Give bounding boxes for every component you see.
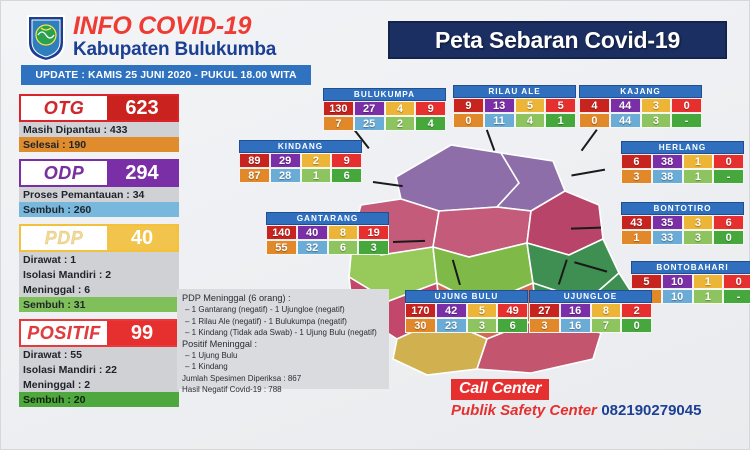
district-cell-otg: 4 <box>579 98 610 113</box>
district-cell-positif-done: - <box>723 289 750 304</box>
statistics-panel: OTG 623 Masih Dipantau : 433 Selesai : 1… <box>19 94 179 414</box>
notes-pdp-item: – 1 Rilau Ale (negatif) - 1 Bulukumpa (n… <box>182 316 384 327</box>
stat-value-pdp: 40 <box>107 226 177 250</box>
district-cell-otg-done: 0 <box>579 113 610 128</box>
district-cell-odp-done: 32 <box>297 240 328 255</box>
district-cell-pdp-done: 2 <box>385 116 416 131</box>
district-cell-positif-done: - <box>713 169 744 184</box>
stat-tag-positif: POSITIF <box>21 321 107 345</box>
district-cell-odp: 27 <box>354 101 385 116</box>
district-card-bulukumpa: BULUKUMPA 130 27 4 9 7 25 2 4 <box>323 88 446 131</box>
stat-row: Meninggal : 2 <box>19 377 179 392</box>
notes-positif-item: – 1 Ujung Bulu <box>182 350 384 361</box>
district-cell-odp: 16 <box>560 303 591 318</box>
district-cell-otg-done: 87 <box>239 168 270 183</box>
district-cell-otg: 5 <box>631 274 662 289</box>
district-card-rilau-ale: RILAU ALE 9 13 5 5 0 11 4 1 <box>453 85 576 128</box>
district-cell-positif: 9 <box>415 101 446 116</box>
stat-row: Isolasi Mandiri : 22 <box>19 362 179 377</box>
district-cell-otg-done: 7 <box>323 116 354 131</box>
district-cell-positif-done: 0 <box>713 230 744 245</box>
district-cell-odp-done: 16 <box>560 318 591 333</box>
district-cell-pdp: 5 <box>515 98 546 113</box>
stat-head-otg: OTG 623 <box>19 94 179 122</box>
district-cell-odp-done: 33 <box>652 230 683 245</box>
district-name: BONTOTIRO <box>621 202 744 215</box>
stat-head-odp: ODP 294 <box>19 159 179 187</box>
stat-value-positif: 99 <box>107 321 177 345</box>
district-value-grid: 170 42 5 49 30 23 3 6 <box>405 303 528 333</box>
district-card-ujung-bulu: UJUNG BULU 170 42 5 49 30 23 3 6 <box>405 290 528 333</box>
district-card-ujungloe: UJUNGLOE 27 16 8 2 3 16 7 0 <box>529 290 652 333</box>
district-card-kindang: KINDANG 89 29 2 9 87 28 1 6 <box>239 140 362 183</box>
district-cell-otg: 89 <box>239 153 270 168</box>
district-name: HERLANG <box>621 141 744 154</box>
stat-row: Masih Dipantau : 433 <box>19 122 179 137</box>
district-cell-otg: 130 <box>323 101 354 116</box>
district-cell-pdp-done: 3 <box>683 230 714 245</box>
district-cell-odp-done: 28 <box>270 168 301 183</box>
district-cell-positif: 0 <box>671 98 702 113</box>
district-cell-pdp-done: 1 <box>301 168 332 183</box>
district-cell-otg-done: 3 <box>529 318 560 333</box>
district-card-bontotiro: BONTOTIRO 43 35 3 6 1 33 3 0 <box>621 202 744 245</box>
district-cell-otg: 6 <box>621 154 652 169</box>
infographic-root: INFO COVID-19 Kabupaten Bulukumba UPDATE… <box>0 0 750 450</box>
district-value-grid: 140 40 8 19 55 32 6 3 <box>266 225 389 255</box>
district-value-grid: 89 29 2 9 87 28 1 6 <box>239 153 362 183</box>
stat-block-positif: POSITIF 99 Dirawat : 55 Isolasi Mandiri … <box>19 319 179 407</box>
district-cell-odp: 38 <box>652 154 683 169</box>
district-cell-pdp-done: 1 <box>683 169 714 184</box>
notes-pdp-item: – 1 Gantarang (negatif) - 1 Ujungloe (ne… <box>182 304 384 315</box>
district-cell-pdp: 1 <box>693 274 724 289</box>
district-cell-pdp-done: 6 <box>328 240 359 255</box>
district-cell-positif: 9 <box>331 153 362 168</box>
notes-footer-line: Hasil Negatif Covid-19 : 788 <box>182 384 384 395</box>
stat-tag-odp: ODP <box>21 161 107 185</box>
district-cell-pdp: 8 <box>328 225 359 240</box>
stat-row: Meninggal : 6 <box>19 282 179 297</box>
district-card-kajang: KAJANG 4 44 3 0 0 44 3 - <box>579 85 702 128</box>
district-cell-odp-done: 25 <box>354 116 385 131</box>
district-name: BULUKUMPA <box>323 88 446 101</box>
call-center-label: Publik Safety Center <box>451 402 597 419</box>
map-title-banner: Peta Sebaran Covid-19 <box>388 21 727 59</box>
district-cell-pdp-done: 3 <box>467 318 498 333</box>
stat-row: Dirawat : 55 <box>19 347 179 362</box>
stat-value-odp: 294 <box>107 161 177 185</box>
district-value-grid: 9 13 5 5 0 11 4 1 <box>453 98 576 128</box>
stat-row: Isolasi Mandiri : 2 <box>19 267 179 282</box>
district-cell-positif-done: - <box>671 113 702 128</box>
call-center-badge: Call Center <box>451 379 549 400</box>
district-cell-otg-done: 55 <box>266 240 297 255</box>
district-cell-pdp: 3 <box>683 215 714 230</box>
district-cell-positif: 6 <box>713 215 744 230</box>
notes-positif-heading: Positif Meninggal : <box>182 339 384 350</box>
district-name: BONTOBAHARI <box>631 261 750 274</box>
notes-footer-line: Jumlah Spesimen Diperiksa : 867 <box>182 373 384 384</box>
district-name: GANTARANG <box>266 212 389 225</box>
district-cell-positif-done: 6 <box>497 318 528 333</box>
district-cell-pdp-done: 4 <box>515 113 546 128</box>
district-cell-odp-done: 23 <box>436 318 467 333</box>
district-cell-odp: 29 <box>270 153 301 168</box>
stat-value-otg: 623 <box>107 96 177 120</box>
district-cell-otg-done: 0 <box>453 113 484 128</box>
district-cell-odp: 35 <box>652 215 683 230</box>
stat-row: Sembuh : 20 <box>19 392 179 407</box>
district-cell-otg: 43 <box>621 215 652 230</box>
district-cell-odp: 10 <box>662 274 693 289</box>
district-cell-pdp-done: 3 <box>641 113 672 128</box>
district-cell-positif: 49 <box>497 303 528 318</box>
stat-block-otg: OTG 623 Masih Dipantau : 433 Selesai : 1… <box>19 94 179 152</box>
district-card-herlang: HERLANG 6 38 1 0 3 38 1 - <box>621 141 744 184</box>
district-cell-otg: 140 <box>266 225 297 240</box>
call-center-phone[interactable]: 082190279045 <box>601 402 701 419</box>
stat-row: Sembuh : 260 <box>19 202 179 217</box>
district-cell-positif: 5 <box>545 98 576 113</box>
district-value-grid: 4 44 3 0 0 44 3 - <box>579 98 702 128</box>
notes-pdp-heading: PDP Meninggal (6 orang) : <box>182 293 384 304</box>
district-cell-pdp-done: 7 <box>591 318 622 333</box>
district-value-grid: 6 38 1 0 3 38 1 - <box>621 154 744 184</box>
district-cell-positif: 0 <box>713 154 744 169</box>
district-cell-otg: 27 <box>529 303 560 318</box>
district-cell-odp: 44 <box>610 98 641 113</box>
call-center-block: Call Center Publik Safety Center 0821902… <box>451 379 701 420</box>
district-cell-pdp-done: 1 <box>693 289 724 304</box>
district-cell-positif-done: 1 <box>545 113 576 128</box>
district-cell-positif-done: 4 <box>415 116 446 131</box>
district-cell-odp-done: 38 <box>652 169 683 184</box>
district-cell-pdp: 2 <box>301 153 332 168</box>
district-cell-positif: 2 <box>621 303 652 318</box>
district-cell-positif-done: 3 <box>358 240 389 255</box>
district-card-gantarang: GANTARANG 140 40 8 19 55 32 6 3 <box>266 212 389 255</box>
stat-head-positif: POSITIF 99 <box>19 319 179 347</box>
district-cell-pdp: 5 <box>467 303 498 318</box>
district-cell-odp: 42 <box>436 303 467 318</box>
district-cell-odp-done: 44 <box>610 113 641 128</box>
district-name: RILAU ALE <box>453 85 576 98</box>
district-cell-otg-done: 30 <box>405 318 436 333</box>
district-cell-pdp: 8 <box>591 303 622 318</box>
stat-row: Proses Pemantauan : 34 <box>19 187 179 202</box>
stat-block-pdp: PDP 40 Dirawat : 1 Isolasi Mandiri : 2 M… <box>19 224 179 312</box>
district-cell-pdp: 3 <box>641 98 672 113</box>
district-cell-otg-done: 1 <box>621 230 652 245</box>
district-value-grid: 27 16 8 2 3 16 7 0 <box>529 303 652 333</box>
district-cell-otg-done: 3 <box>621 169 652 184</box>
district-name: KAJANG <box>579 85 702 98</box>
notes-panel: PDP Meninggal (6 orang) : – 1 Gantarang … <box>177 289 389 389</box>
district-cell-odp: 13 <box>484 98 515 113</box>
district-cell-positif: 0 <box>723 274 750 289</box>
district-cell-odp-done: 11 <box>484 113 515 128</box>
header-title: INFO COVID-19 Kabupaten Bulukumba <box>73 13 276 61</box>
district-cell-pdp: 1 <box>683 154 714 169</box>
district-name: UJUNGLOE <box>529 290 652 303</box>
header-title-line1: INFO COVID-19 <box>73 13 276 39</box>
stat-tag-pdp: PDP <box>21 226 107 250</box>
stat-block-odp: ODP 294 Proses Pemantauan : 34 Sembuh : … <box>19 159 179 217</box>
district-cell-odp: 40 <box>297 225 328 240</box>
district-value-grid: 130 27 4 9 7 25 2 4 <box>323 101 446 131</box>
stat-row: Dirawat : 1 <box>19 252 179 267</box>
district-cell-pdp: 4 <box>385 101 416 116</box>
district-name: KINDANG <box>239 140 362 153</box>
stat-tag-otg: OTG <box>21 96 107 120</box>
district-cell-positif-done: 6 <box>331 168 362 183</box>
district-name: UJUNG BULU <box>405 290 528 303</box>
district-value-grid: 43 35 3 6 1 33 3 0 <box>621 215 744 245</box>
district-cell-positif-done: 0 <box>621 318 652 333</box>
stat-head-pdp: PDP 40 <box>19 224 179 252</box>
update-timestamp-bar: UPDATE : KAMIS 25 JUNI 2020 - PUKUL 18.0… <box>21 65 311 85</box>
district-cell-otg: 9 <box>453 98 484 113</box>
header-title-line2: Kabupaten Bulukumba <box>73 39 276 61</box>
stat-row: Selesai : 190 <box>19 137 179 152</box>
call-center-line: Publik Safety Center 082190279045 <box>451 402 701 420</box>
district-cell-otg: 170 <box>405 303 436 318</box>
bulukumba-crest-icon <box>25 13 67 63</box>
district-cell-odp-done: 10 <box>662 289 693 304</box>
stat-row: Sembuh : 31 <box>19 297 179 312</box>
notes-positif-item: – 1 Kindang <box>182 361 384 372</box>
notes-pdp-item: – 1 Kindang (Tidak ada Swab) - 1 Ujung B… <box>182 327 384 338</box>
district-cell-positif: 19 <box>358 225 389 240</box>
